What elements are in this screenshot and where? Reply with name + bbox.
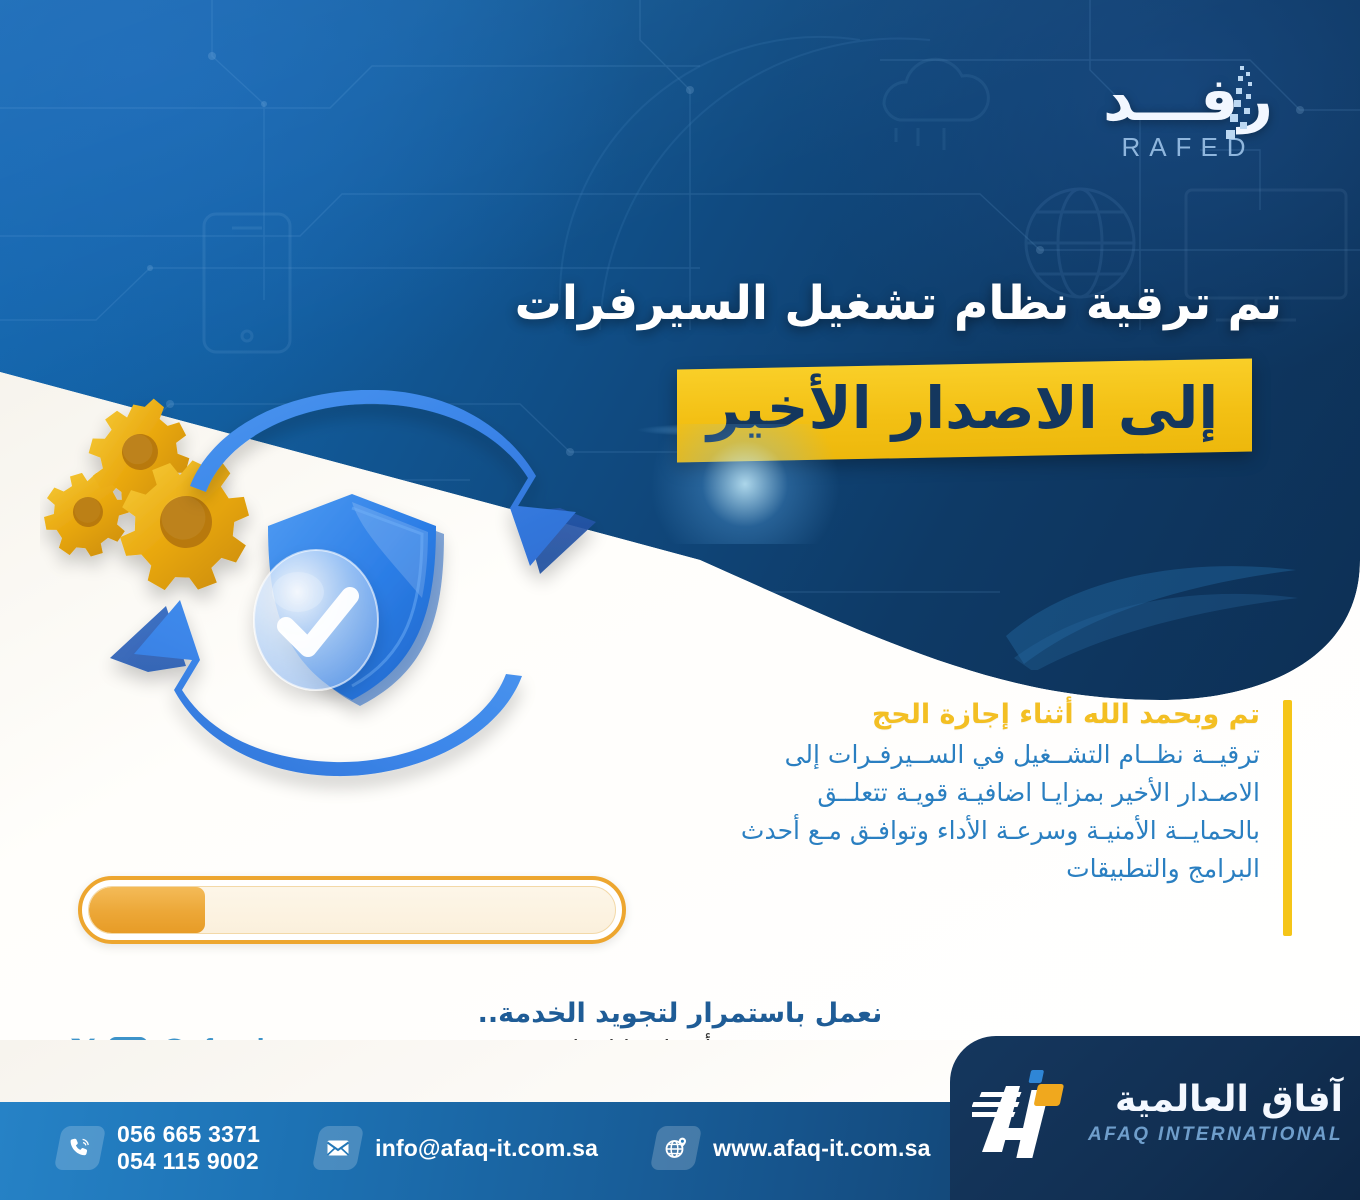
contact-website[interactable]: www.afaq-it.com.sa <box>654 1126 930 1170</box>
gears-icon <box>40 395 255 598</box>
afaq-logo-text: آفاق العالمية AFAQ INTERNATIONAL <box>1088 1082 1343 1146</box>
swoosh-decoration <box>1000 540 1300 670</box>
tagline-bold: نعمل باستمرار لتجويد الخدمة.. <box>0 996 1360 1031</box>
footer-white-curve-decoration <box>0 1040 1010 1102</box>
headline-banner-wrapper: إلى الاصدار الأخير <box>677 364 1252 457</box>
afaq-logo-panel: آفاق العالمية AFAQ INTERNATIONAL <box>950 1036 1360 1200</box>
phone-icon <box>54 1126 107 1170</box>
contact-email[interactable]: info@afaq-it.com.sa <box>316 1126 598 1170</box>
progress-bar-fill <box>89 887 205 933</box>
body-accent-divider <box>1283 700 1292 936</box>
body-text-block: تم وبحمد الله أثناء إجازة الحج ترقيــة ن… <box>740 698 1260 888</box>
body-paragraph: ترقيــة نظــام التشــغيل في الســيرفـرات… <box>740 736 1260 888</box>
contact-phone[interactable]: 056 665 3371 054 115 9002 <box>58 1121 260 1175</box>
contact-website-text: www.afaq-it.com.sa <box>713 1135 930 1162</box>
afaq-logo-arabic: آفاق العالمية <box>1088 1082 1343 1118</box>
headline-banner-text: إلى الاصدار الأخير <box>707 378 1218 439</box>
refresh-shield-check-gears-illustration <box>40 390 660 870</box>
progress-bar[interactable] <box>78 876 626 944</box>
rafed-dots-decoration <box>1196 64 1266 154</box>
rafed-logo: رفـــد RAFED <box>1088 70 1288 190</box>
poster-canvas: رفـــد RAFED تم ترقية نظام تشغيل السيرفر… <box>0 0 1360 1200</box>
phone-number-1: 056 665 3371 <box>117 1121 260 1147</box>
envelope-icon <box>312 1126 365 1170</box>
globe-pin-icon <box>650 1126 703 1170</box>
contact-email-text: info@afaq-it.com.sa <box>375 1135 598 1162</box>
checkmark-icon <box>254 550 378 690</box>
afaq-logo-latin: AFAQ INTERNATIONAL <box>1088 1124 1343 1146</box>
contact-phone-text: 056 665 3371 054 115 9002 <box>117 1121 260 1175</box>
headline-banner: إلى الاصدار الأخير <box>677 358 1252 462</box>
phone-number-2: 054 115 9002 <box>117 1148 259 1174</box>
footer-contacts: 056 665 3371 054 115 9002 info@afaq-it.c… <box>58 1108 931 1188</box>
progress-bar-track <box>88 886 616 934</box>
afaq-logo-mark-icon <box>972 1066 1076 1162</box>
afaq-logo: آفاق العالمية AFAQ INTERNATIONAL <box>972 1066 1343 1162</box>
body-heading: تم وبحمد الله أثناء إجازة الحج <box>740 698 1260 732</box>
headline-primary: تم ترقية نظام تشغيل السيرفرات <box>602 278 1282 331</box>
